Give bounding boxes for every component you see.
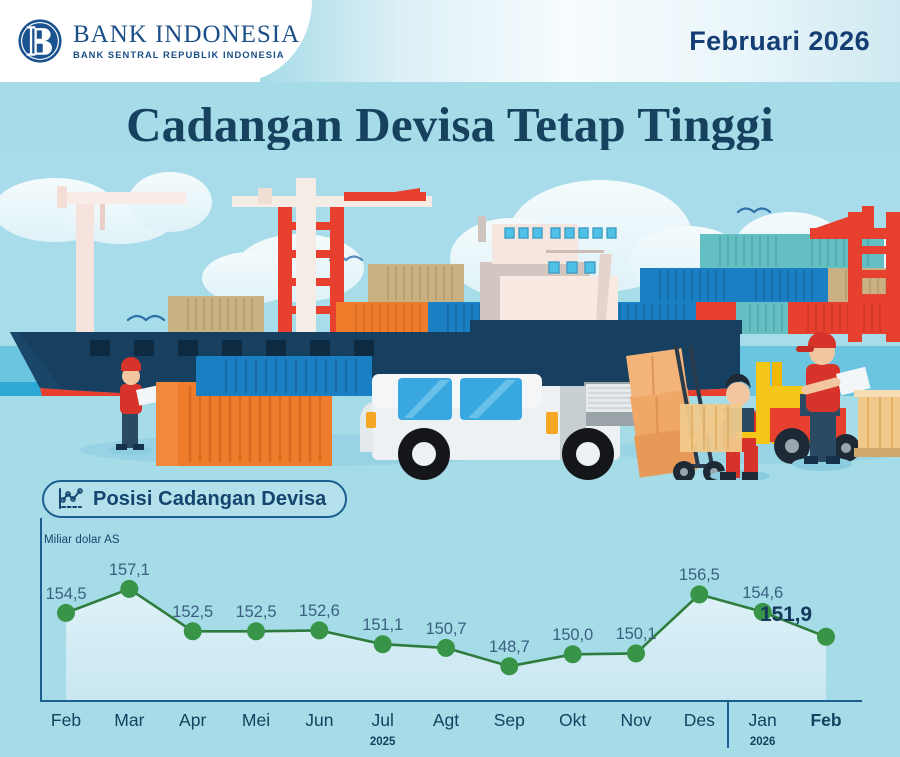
ship-superstructure <box>478 216 618 338</box>
year-divider-line <box>727 700 729 748</box>
logo-title: BANK INDONESIA <box>73 22 300 48</box>
chart-value-label: 154,6 <box>742 584 783 603</box>
chart-value-label: 156,5 <box>679 566 720 585</box>
chart-marker[interactable] <box>690 585 708 603</box>
x-axis-label: Okt <box>559 710 586 731</box>
port-scene-graphic <box>0 150 900 480</box>
x-axis-label: Des <box>684 710 715 731</box>
chart-marker[interactable] <box>310 621 328 639</box>
chart-value-label: 152,6 <box>299 602 340 621</box>
logo-text-block: BANK INDONESIA BANK SENTRAL REPUBLIK IND… <box>73 22 300 61</box>
x-axis-label: Sep <box>494 710 525 731</box>
logo-subtitle: BANK SENTRAL REPUBLIK INDONESIA <box>73 49 300 60</box>
chart-marker[interactable] <box>564 645 582 663</box>
chart-title-badge: Posisi Cadangan Devisa <box>42 480 347 518</box>
line-chart-icon <box>58 488 84 510</box>
ship-deck-containers <box>168 296 264 332</box>
x-axis-label: Jun <box>305 710 333 731</box>
x-axis-label: Jul <box>371 710 393 731</box>
chart-marker[interactable] <box>120 580 138 598</box>
chart-marker[interactable] <box>184 622 202 640</box>
chart-marker[interactable] <box>627 644 645 662</box>
chart-latest-value-label: 151,9 <box>760 603 812 627</box>
x-axis-label: Mei <box>242 710 270 731</box>
x-axis-label: Nov <box>620 710 651 731</box>
chart-marker[interactable] <box>374 635 392 653</box>
x-axis-year-label: 2026 <box>750 736 776 748</box>
bank-indonesia-emblem-icon <box>17 18 63 64</box>
date-badge: Februari 2026 <box>689 0 870 82</box>
axis-unit-label: Miliar dolar AS <box>44 534 120 546</box>
chart-value-label: 152,5 <box>236 603 277 622</box>
x-axis-label: Agt <box>433 710 459 731</box>
x-axis-label: Jan <box>749 710 777 731</box>
chart-value-label: 150,0 <box>552 626 593 645</box>
x-axis-label: Apr <box>179 710 206 731</box>
chart-marker[interactable] <box>57 604 75 622</box>
x-axis-label: Feb <box>810 710 841 731</box>
port-illustration <box>0 150 900 480</box>
page-title: Cadangan Devisa Tetap Tinggi <box>0 96 900 153</box>
chart-value-label: 150,7 <box>426 620 467 639</box>
infographic-canvas: BANK INDONESIA BANK SENTRAL REPUBLIK IND… <box>0 0 900 757</box>
chart-marker[interactable] <box>437 639 455 657</box>
x-axis-line <box>40 700 862 702</box>
chart-value-label: 151,1 <box>362 616 403 635</box>
date-label: Februari 2026 <box>689 26 870 57</box>
x-axis-year-label: 2025 <box>370 736 396 748</box>
x-axis-label: Feb <box>51 710 81 731</box>
foreground-container-blue <box>196 356 372 396</box>
chart-value-label: 154,5 <box>46 585 87 604</box>
chart-marker[interactable] <box>817 628 835 646</box>
chart-marker[interactable] <box>247 622 265 640</box>
chart-value-label: 157,1 <box>109 561 150 580</box>
chart-value-label: 152,5 <box>172 603 213 622</box>
bank-indonesia-logo: BANK INDONESIA BANK SENTRAL REPUBLIK IND… <box>17 13 300 69</box>
chart-badge-label: Posisi Cadangan Devisa <box>93 488 326 511</box>
x-axis-label: Mar <box>114 710 144 731</box>
chart-panel: Posisi Cadangan Devisa Miliar dolar AS 1… <box>0 470 900 757</box>
chart-value-label: 148,7 <box>489 638 530 657</box>
chart-value-label: 150,1 <box>616 625 657 644</box>
chart-marker[interactable] <box>500 657 518 675</box>
